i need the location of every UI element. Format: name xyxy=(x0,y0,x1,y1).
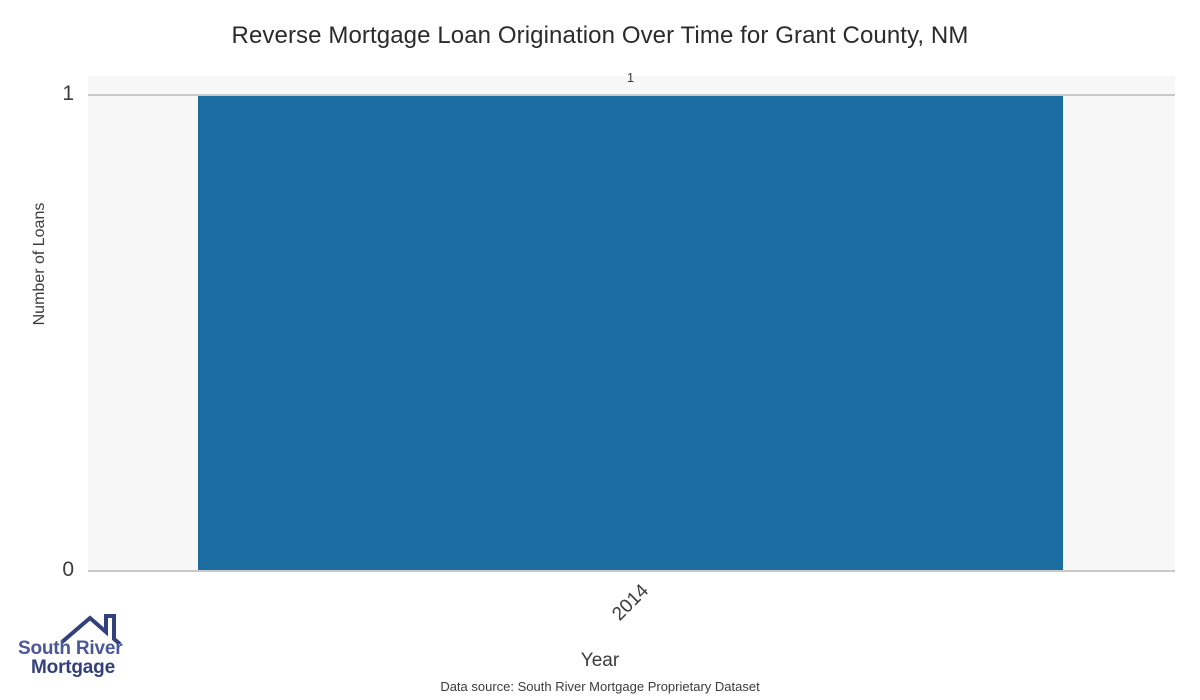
bar-2014[interactable] xyxy=(198,96,1063,572)
data-source-note: Data source: South River Mortgage Propri… xyxy=(0,679,1200,694)
x-axis-title: Year xyxy=(0,650,1200,672)
x-axis-tick-label-2014: 2014 xyxy=(593,565,669,641)
bar-value-label-2014: 1 xyxy=(198,70,1063,85)
y-axis-tick-label-0: 0 xyxy=(30,558,74,582)
gridline-y-0 xyxy=(88,570,1175,572)
chart-title: Reverse Mortgage Loan Origination Over T… xyxy=(0,22,1200,50)
y-axis-title: Number of Loans xyxy=(31,164,49,364)
chart-figure: Reverse Mortgage Loan Origination Over T… xyxy=(0,0,1200,700)
y-axis-tick-label-1: 1 xyxy=(30,82,74,106)
plot-area: 1 xyxy=(88,76,1175,572)
brand-logo: South River Mortgage xyxy=(18,612,128,680)
logo-text-line-2: Mortgage xyxy=(18,657,128,679)
